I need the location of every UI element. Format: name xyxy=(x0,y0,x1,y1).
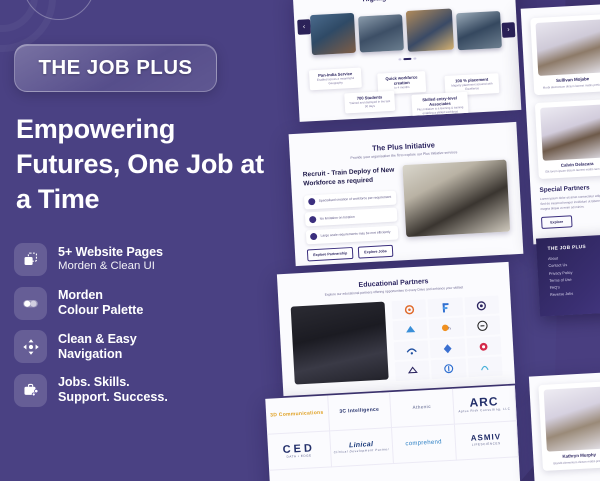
testimonial-card: Kathryn Murphy Blandit elementum dictum … xyxy=(538,381,600,470)
avatar xyxy=(540,104,600,161)
initiative-item-text: Large scale requirements may be met effi… xyxy=(321,230,391,238)
stat-card-desc: Majority placement assured with Excellen… xyxy=(449,82,495,92)
feature-item-palette: Morden Colour Palette xyxy=(14,287,264,320)
carousel-photo xyxy=(456,11,502,50)
stat-card-desc: Enabled across a meaningful Geography xyxy=(313,77,357,87)
carousel-photo xyxy=(406,9,454,52)
partner-logo: CED DATA • EDGE xyxy=(267,431,331,470)
partner-logo-sub: DATA • EDGE xyxy=(283,454,315,459)
education-logo xyxy=(430,338,465,358)
carousel-photo xyxy=(358,14,404,52)
toggle-switch-icon xyxy=(14,287,47,320)
stat-card-desc: Trained and deployed in the last 90 days xyxy=(349,100,391,110)
education-logo xyxy=(466,336,501,356)
partner-logo-sub: Clinical Development Partner xyxy=(334,448,390,454)
feature-item-jobs: Jobs. Skills. Support. Success. xyxy=(14,374,264,407)
partner-logo: comprehend xyxy=(392,425,456,464)
partner-logo-grid: 3D Communications 3C Intelligence Atheni… xyxy=(265,385,519,470)
partner-logo: ASMIV LIFESCIENCES xyxy=(454,421,518,460)
partner-logo-label: Linical Clinical Development Partner xyxy=(333,440,389,454)
mockup-footer-panel: THE JOB PLUS About Contact Us Privacy Po… xyxy=(536,233,600,316)
chevron-right-icon: › xyxy=(507,26,510,33)
stat-card: Pan-India Service Enabled across a meani… xyxy=(309,68,362,90)
footer-link-privacy[interactable]: Privacy Policy xyxy=(549,268,600,276)
brand-badge: THE JOB PLUS xyxy=(14,44,217,92)
partner-logo-label: ARC Aptus Risk Consulting, LLC xyxy=(458,395,511,414)
feature-title: Jobs. Skills. xyxy=(58,375,168,390)
bullet-icon xyxy=(309,215,316,222)
stat-card: 700 Students Trained and deployed in the… xyxy=(344,91,395,113)
carousel-dot-active[interactable] xyxy=(403,58,411,60)
mockup-initiative-panel: The Plus Initiative Provide your organis… xyxy=(289,122,524,266)
footer-logo: THE JOB PLUS xyxy=(547,243,600,252)
footer-link-about[interactable]: About xyxy=(548,253,600,261)
feature-subtitle: Navigation xyxy=(58,347,137,362)
partner-logo: ARC Aptus Risk Consulting, LLC xyxy=(452,385,516,424)
carousel-dot[interactable] xyxy=(398,58,401,60)
feature-subtitle: Support. Success. xyxy=(58,390,168,405)
feature-title: 5+ Website Pages xyxy=(58,245,163,260)
bullet-icon xyxy=(308,198,315,205)
education-logo xyxy=(391,299,426,319)
feature-item-navigation: Clean & Easy Navigation xyxy=(14,330,264,363)
carousel-prev-button[interactable]: ‹ xyxy=(297,19,311,35)
explore-button[interactable]: Explore xyxy=(541,216,572,230)
partner-logo: 3D Communications xyxy=(265,395,329,434)
left-column: THE JOB PLUS Empowering Futures, One Job… xyxy=(0,0,272,481)
footer-link-contact[interactable]: Contact Us xyxy=(548,260,600,268)
pages-copy-icon xyxy=(14,243,47,276)
explore-partnership-button[interactable]: Explore Partnership xyxy=(307,246,354,260)
initiative-list-item: Large scale requirements may be met effi… xyxy=(306,225,399,244)
mockup-education-panel: Educational Partners Explore our educati… xyxy=(277,262,515,396)
feature-subtitle: Morden & Clean UI xyxy=(58,260,163,273)
stat-card-desc: Plus Initiative is a learning & training… xyxy=(416,106,464,116)
initiative-photo xyxy=(403,160,511,238)
avatar xyxy=(535,19,600,76)
carousel-next-button[interactable]: › xyxy=(502,22,516,38)
feature-title: Morden xyxy=(58,288,143,303)
stat-card: Skilled entry-level Associates Plus Init… xyxy=(411,92,468,120)
partner-logo-label: 3C Intelligence xyxy=(339,407,379,415)
feature-title: Clean & Easy xyxy=(58,332,137,347)
bullet-icon xyxy=(310,233,317,240)
image-carousel xyxy=(304,3,508,59)
initiative-item-text: No limitation on location xyxy=(320,215,355,221)
initiative-heading: Recruit - Train Deploy of New Workforce … xyxy=(303,166,396,189)
poster-stage: THE JOB PLUS Empowering Futures, One Job… xyxy=(0,0,600,481)
feature-list: 5+ Website Pages Morden & Clean UI Morde… xyxy=(14,243,264,417)
special-partners-body: Lorem ipsum dolor sit amet consectetur a… xyxy=(540,193,600,212)
carousel-dot[interactable] xyxy=(413,58,416,60)
testimonial-card: Sullivan Mojabe Morbi elementum dictum l… xyxy=(530,14,600,95)
education-logo xyxy=(395,361,430,381)
brand-badge-label: THE JOB PLUS xyxy=(38,56,192,80)
partner-logo-label: comprehend xyxy=(405,440,442,449)
partner-logo: Linical Clinical Development Partner xyxy=(330,428,394,467)
partner-logo-sub: LIFESCIENCES xyxy=(471,442,501,447)
testimonial-card: Calvin Delacara Elit lorem ipsum dictum … xyxy=(535,98,600,179)
feature-item-pages: 5+ Website Pages Morden & Clean UI xyxy=(14,243,264,276)
education-logo xyxy=(464,295,499,315)
four-way-arrows-icon xyxy=(14,330,47,363)
graduation-photo xyxy=(291,301,389,384)
education-logo xyxy=(393,320,428,340)
education-logo xyxy=(467,357,502,377)
footer-link-faq[interactable]: FAQ's xyxy=(550,282,600,290)
special-partners-title: Special Partners xyxy=(539,183,600,194)
partner-logo-label: CED DATA • EDGE xyxy=(282,442,315,459)
avatar xyxy=(544,386,600,451)
education-logo: h xyxy=(429,318,464,338)
stat-card-group: Pan-India Service Enabled across a meani… xyxy=(307,59,511,114)
partner-logo: 3C Intelligence xyxy=(328,392,392,431)
education-logo xyxy=(431,359,466,379)
svg-text:h: h xyxy=(448,326,450,331)
footer-link-reverse-jobs[interactable]: Reverse Jobs xyxy=(550,289,600,297)
education-logo xyxy=(394,340,429,360)
education-logo xyxy=(428,297,463,317)
partner-logo-label: 3D Communications xyxy=(270,410,324,418)
initiative-list-item: No limitation on location xyxy=(305,208,398,227)
initiative-item-text: Specialised creation of workforce per re… xyxy=(319,195,392,203)
footer-link-terms[interactable]: Terms of Use xyxy=(549,275,600,283)
explore-jobs-button[interactable]: Explore Jobs xyxy=(358,244,393,258)
feature-subtitle: Colour Palette xyxy=(58,303,143,318)
education-logo xyxy=(465,316,500,336)
partner-logo-sub: Aptus Risk Consulting, LLC xyxy=(458,408,510,414)
page-title: Empowering Futures, One Job at a Time xyxy=(16,112,268,217)
mockup-highlights-panel: Highlights of this service ‹ › Pan- xyxy=(293,0,522,122)
chevron-left-icon: ‹ xyxy=(303,23,306,30)
partner-logo-label: ASMIV LIFESCIENCES xyxy=(471,434,502,448)
mockup-testimonials-panel: Sullivan Mojabe Morbi elementum dictum l… xyxy=(521,4,600,245)
partner-logo-label: Athenic xyxy=(412,405,431,411)
partner-logo: Athenic xyxy=(390,389,454,428)
mockup-testimonial-bottom-panel: Kathryn Murphy Blandit elementum dictum … xyxy=(529,372,600,481)
briefcase-share-icon xyxy=(14,374,47,407)
carousel-photo xyxy=(310,13,356,55)
initiative-list-item: Specialised creation of workforce per re… xyxy=(304,190,397,209)
mockup-partner-logos-panel: 3D Communications 3C Intelligence Atheni… xyxy=(265,385,520,481)
education-logo-grid: h xyxy=(391,295,502,381)
